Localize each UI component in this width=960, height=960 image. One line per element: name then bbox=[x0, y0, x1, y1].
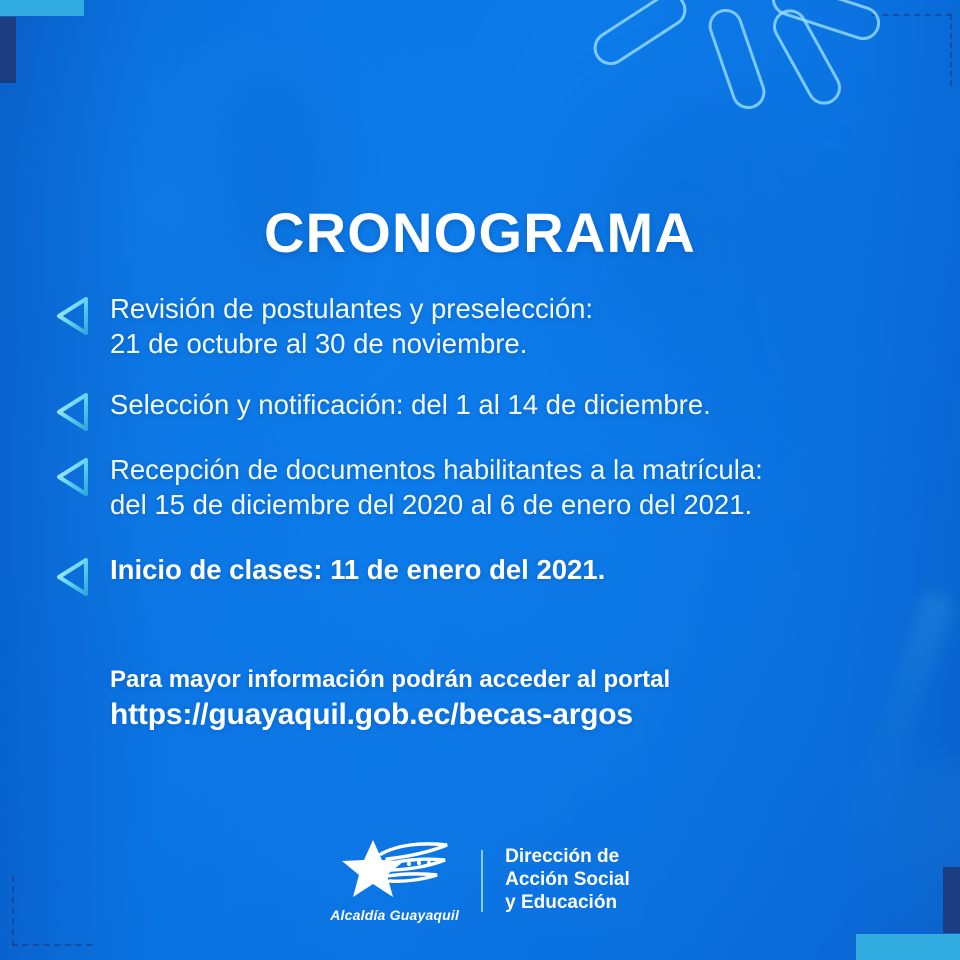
corner-bar-top-left-cyan bbox=[0, 0, 84, 16]
footnote-block: Para mayor información podrán acceder al… bbox=[110, 664, 670, 735]
footnote-text: Para mayor información podrán acceder al… bbox=[110, 664, 670, 695]
star-swoosh-logo-icon bbox=[335, 838, 455, 905]
dashed-frame-top-right-vertical bbox=[950, 14, 952, 86]
department-label: Dirección de Acción Social y Educación bbox=[505, 846, 630, 914]
pill-burst-decoration bbox=[580, 0, 890, 140]
list-item: Inicio de clases: 11 de enero del 2021. bbox=[56, 553, 910, 588]
page-title: CRONOGRAMA bbox=[0, 200, 960, 265]
pill-shape-icon bbox=[704, 4, 770, 113]
list-item: Recepción de documentos habilitantes a l… bbox=[56, 453, 910, 523]
alcaldia-logo-block: Alcaldía Guayaquil bbox=[330, 838, 459, 923]
corner-bar-bottom-right-cyan bbox=[856, 934, 960, 960]
list-item: Revisión de postulantes y preselección: … bbox=[56, 292, 910, 362]
dashed-frame-bottom-left-horizontal bbox=[12, 944, 92, 946]
list-item: Selección y notificación: del 1 al 14 de… bbox=[56, 388, 910, 423]
footer-divider bbox=[481, 850, 483, 912]
list-item-label: Recepción de documentos habilitantes a l… bbox=[110, 453, 910, 523]
footer-branding: Alcaldía Guayaquil Dirección de Acción S… bbox=[0, 838, 960, 923]
left-triangle-bullet-icon bbox=[56, 457, 90, 497]
pill-shape-icon bbox=[587, 0, 693, 72]
brand-name-label: Alcaldía Guayaquil bbox=[330, 907, 459, 923]
poster-canvas: CRONOGRAMA Revisión de postulantes y pre… bbox=[0, 0, 960, 960]
schedule-list: Revisión de postulantes y preselección: … bbox=[56, 292, 910, 614]
portal-url[interactable]: https://guayaquil.gob.ec/becas-argos bbox=[110, 695, 670, 735]
left-triangle-bullet-icon bbox=[56, 392, 90, 432]
list-item-label: Inicio de clases: 11 de enero del 2021. bbox=[110, 553, 910, 588]
left-triangle-bullet-icon bbox=[56, 557, 90, 597]
corner-bar-top-left-navy bbox=[0, 17, 16, 83]
left-triangle-bullet-icon bbox=[56, 296, 90, 336]
list-item-label: Selección y notificación: del 1 al 14 de… bbox=[110, 388, 910, 423]
list-item-label: Revisión de postulantes y preselección: … bbox=[110, 292, 910, 362]
